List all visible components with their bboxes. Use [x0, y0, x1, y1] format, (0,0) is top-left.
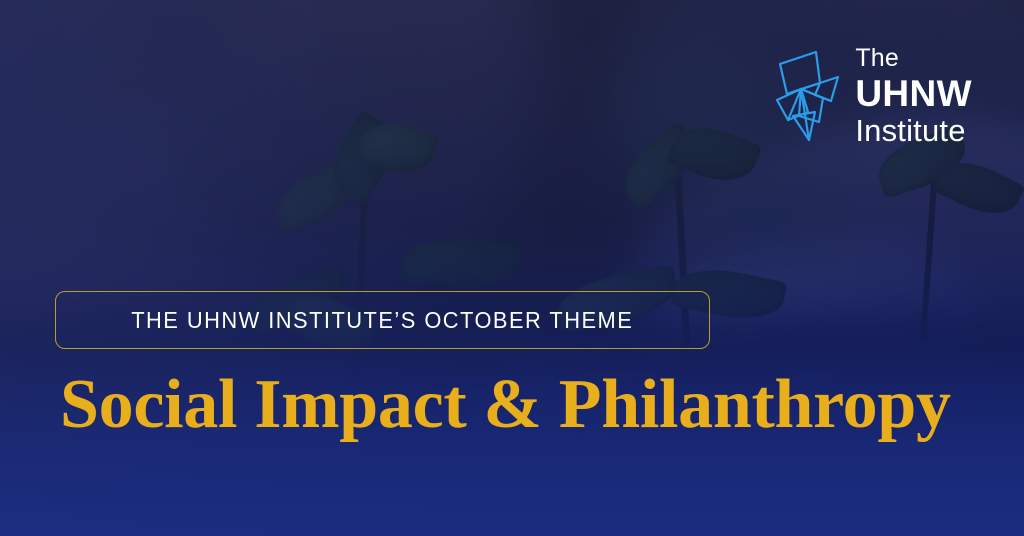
page-title: Social Impact & Philanthropy [60, 366, 951, 444]
theme-eyebrow-label: THE UHNW INSTITUTE’S OCTOBER THEME [131, 307, 633, 334]
logo-line-the: The [855, 46, 972, 71]
promo-banner: The UHNW Institute THE UHNW INSTITUTE’S … [0, 0, 1024, 536]
uhnw-institute-logo[interactable]: The UHNW Institute [775, 46, 972, 146]
uhnw-origami-mark-icon [775, 50, 841, 142]
logo-line-institute: Institute [855, 115, 972, 146]
logo-line-uhnw: UHNW [855, 75, 972, 112]
theme-eyebrow-box: THE UHNW INSTITUTE’S OCTOBER THEME [55, 291, 710, 349]
logo-wordmark: The UHNW Institute [855, 46, 972, 146]
